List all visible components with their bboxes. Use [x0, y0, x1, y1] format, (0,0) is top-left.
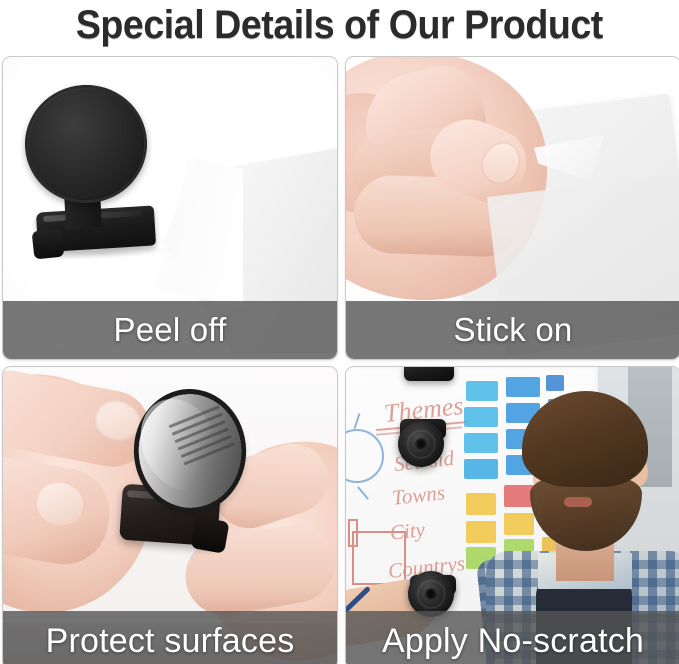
page-title: Special Details of Our Product	[76, 3, 603, 47]
tile-caption-bar: Stick on	[346, 301, 679, 359]
hair	[522, 391, 648, 487]
tower-drawing-icon	[348, 519, 358, 547]
page-title-bar: Special Details of Our Product	[0, 0, 679, 50]
clip-clamp-tip-icon	[190, 516, 229, 553]
tile-caption-bar: Peel off	[3, 301, 337, 359]
feature-tile-grid: Peel off Stick on	[0, 56, 679, 664]
feature-tile-apply-no-scratch[interactable]: Themes Sea sid Towns City Countrys	[345, 366, 679, 664]
sticky-note	[546, 375, 564, 391]
tile-caption-label: Peel off	[114, 311, 227, 349]
disc-center-hole	[425, 588, 437, 600]
clip-top-clamp-icon	[404, 367, 454, 381]
mouth	[564, 497, 592, 507]
tile-caption-bar: Protect surfaces	[3, 611, 337, 664]
clip-clamp-lip-icon	[32, 229, 65, 260]
whiteboard-line-4: City	[389, 517, 426, 546]
tile-caption-label: Apply No-scratch	[382, 622, 644, 661]
product-feature-panel: Special Details of Our Product Peel off	[0, 0, 679, 664]
tile-caption-bar: Apply No-scratch	[346, 611, 679, 664]
tile-caption-label: Stick on	[454, 311, 573, 349]
disc-center-hole	[415, 438, 427, 450]
clip-middle-disc-icon	[398, 421, 444, 467]
feature-tile-protect-surfaces[interactable]: Protect surfaces	[2, 366, 338, 664]
feature-tile-peel-off[interactable]: Peel off	[2, 56, 338, 360]
tile-caption-label: Protect surfaces	[46, 622, 295, 661]
feature-tile-stick-on[interactable]: Stick on	[345, 56, 679, 360]
